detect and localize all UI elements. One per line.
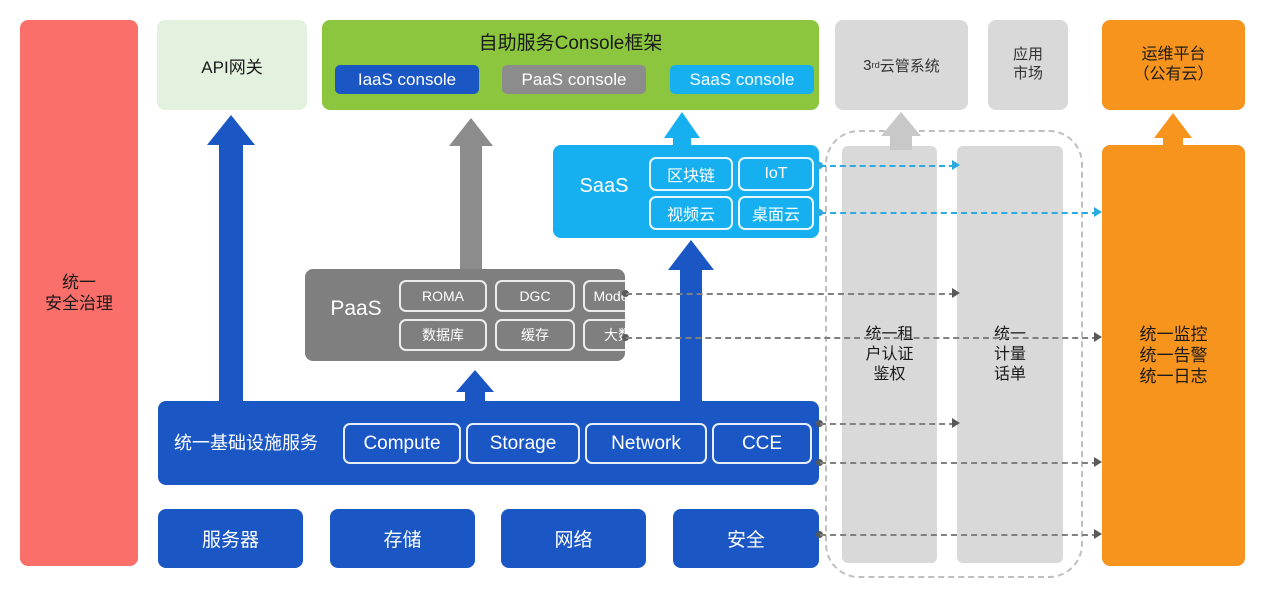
saas-console-chip[interactable]: SaaS console (670, 65, 814, 94)
arrow-infra-to-api-gateway (207, 115, 255, 401)
connector-arrowhead-paas-to-ops (1094, 332, 1102, 342)
saas-chip-video-cloud[interactable]: 视频云 (649, 196, 733, 230)
paas-layer-box: PaaS ROMA DGC ModelArts 数据库 缓存 大数据 (305, 269, 625, 361)
third-party-prefix: 3 (863, 57, 871, 74)
connector-hardware-to-ops (820, 534, 1098, 536)
iaas-console-chip[interactable]: IaaS console (335, 65, 479, 94)
app-market-box: 应用 市场 (988, 20, 1068, 110)
connector-infra-to-ops (820, 462, 1098, 464)
connector-paas-to-ops (626, 337, 1098, 339)
infra-chip-storage[interactable]: Storage (466, 423, 580, 464)
console-frame-title: 自助服务Console框架 (322, 28, 819, 55)
saas-label: SaaS (567, 175, 641, 198)
api-gateway-box: API网关 (157, 20, 307, 110)
connector-arrowhead-saas-to-auth (952, 160, 960, 170)
infra-chip-network[interactable]: Network (585, 423, 707, 464)
saas-chip-blockchain[interactable]: 区块链 (649, 157, 733, 191)
connector-arrowhead-hardware-to-ops (1094, 529, 1102, 539)
paas-console-chip[interactable]: PaaS console (502, 65, 646, 94)
saas-chip-desktop-cloud[interactable]: 桌面云 (738, 196, 814, 230)
paas-chip-dgc[interactable]: DGC (495, 280, 575, 312)
arrow-saas-to-console (664, 112, 700, 145)
architecture-diagram: 统一 安全治理 API网关 自助服务Console框架 IaaS console… (0, 0, 1265, 605)
paas-chip-cache[interactable]: 缓存 (495, 319, 575, 351)
saas-chip-iot[interactable]: IoT (738, 157, 814, 191)
infrastructure-label: 统一基础设施服务 (174, 429, 318, 455)
ops-monitoring-alarm-log-pillar: 统一监控 统一告警 统一日志 (1102, 145, 1245, 566)
hardware-box-storage[interactable]: 存储 (330, 509, 475, 568)
connector-arrowhead-infra-to-ops (1094, 457, 1102, 467)
paas-label: PaaS (317, 297, 395, 321)
paas-chip-database[interactable]: 数据库 (399, 319, 487, 351)
arrow-infra-to-paas (456, 370, 494, 401)
saas-layer-box: SaaS 区块链 IoT 视频云 桌面云 (553, 145, 819, 238)
unified-metering-billing-column: 统一 计量 话单 (957, 146, 1063, 563)
arrow-infra-to-saas (668, 240, 714, 401)
connector-arrowhead-paas-to-auth (952, 288, 960, 298)
connector-paas-to-auth (626, 293, 955, 295)
unified-infrastructure-service-bar: 统一基础设施服务 Compute Storage Network CCE (158, 401, 819, 485)
self-service-console-frame: 自助服务Console框架 IaaS console PaaS console … (322, 20, 819, 110)
paas-chip-roma[interactable]: ROMA (399, 280, 487, 312)
connector-infra-to-auth (820, 423, 955, 425)
third-party-cloud-management-box: 3rd云管系统 (835, 20, 968, 110)
connector-arrowhead-saas-to-ops (1094, 207, 1102, 217)
ops-platform-public-cloud-box: 运维平台 （公有云） (1102, 20, 1245, 110)
third-party-ordinal-suffix: rd (872, 60, 880, 70)
third-party-rest: 云管系统 (880, 55, 940, 76)
connector-saas-to-auth (820, 165, 955, 167)
unified-security-governance-pillar: 统一 安全治理 (20, 20, 138, 566)
hardware-box-security[interactable]: 安全 (673, 509, 819, 568)
arrow-ops-pillar-to-public-cloud (1154, 113, 1192, 146)
infra-chip-cce[interactable]: CCE (712, 423, 812, 464)
unified-tenant-auth-column: 统一租 户认证 鉴权 (842, 146, 937, 563)
hardware-box-server[interactable]: 服务器 (158, 509, 303, 568)
connector-arrowhead-infra-to-auth (952, 418, 960, 428)
connector-saas-to-ops (820, 212, 1098, 214)
infra-chip-compute[interactable]: Compute (343, 423, 461, 464)
arrow-paas-to-console (449, 118, 493, 269)
hardware-box-network[interactable]: 网络 (501, 509, 646, 568)
